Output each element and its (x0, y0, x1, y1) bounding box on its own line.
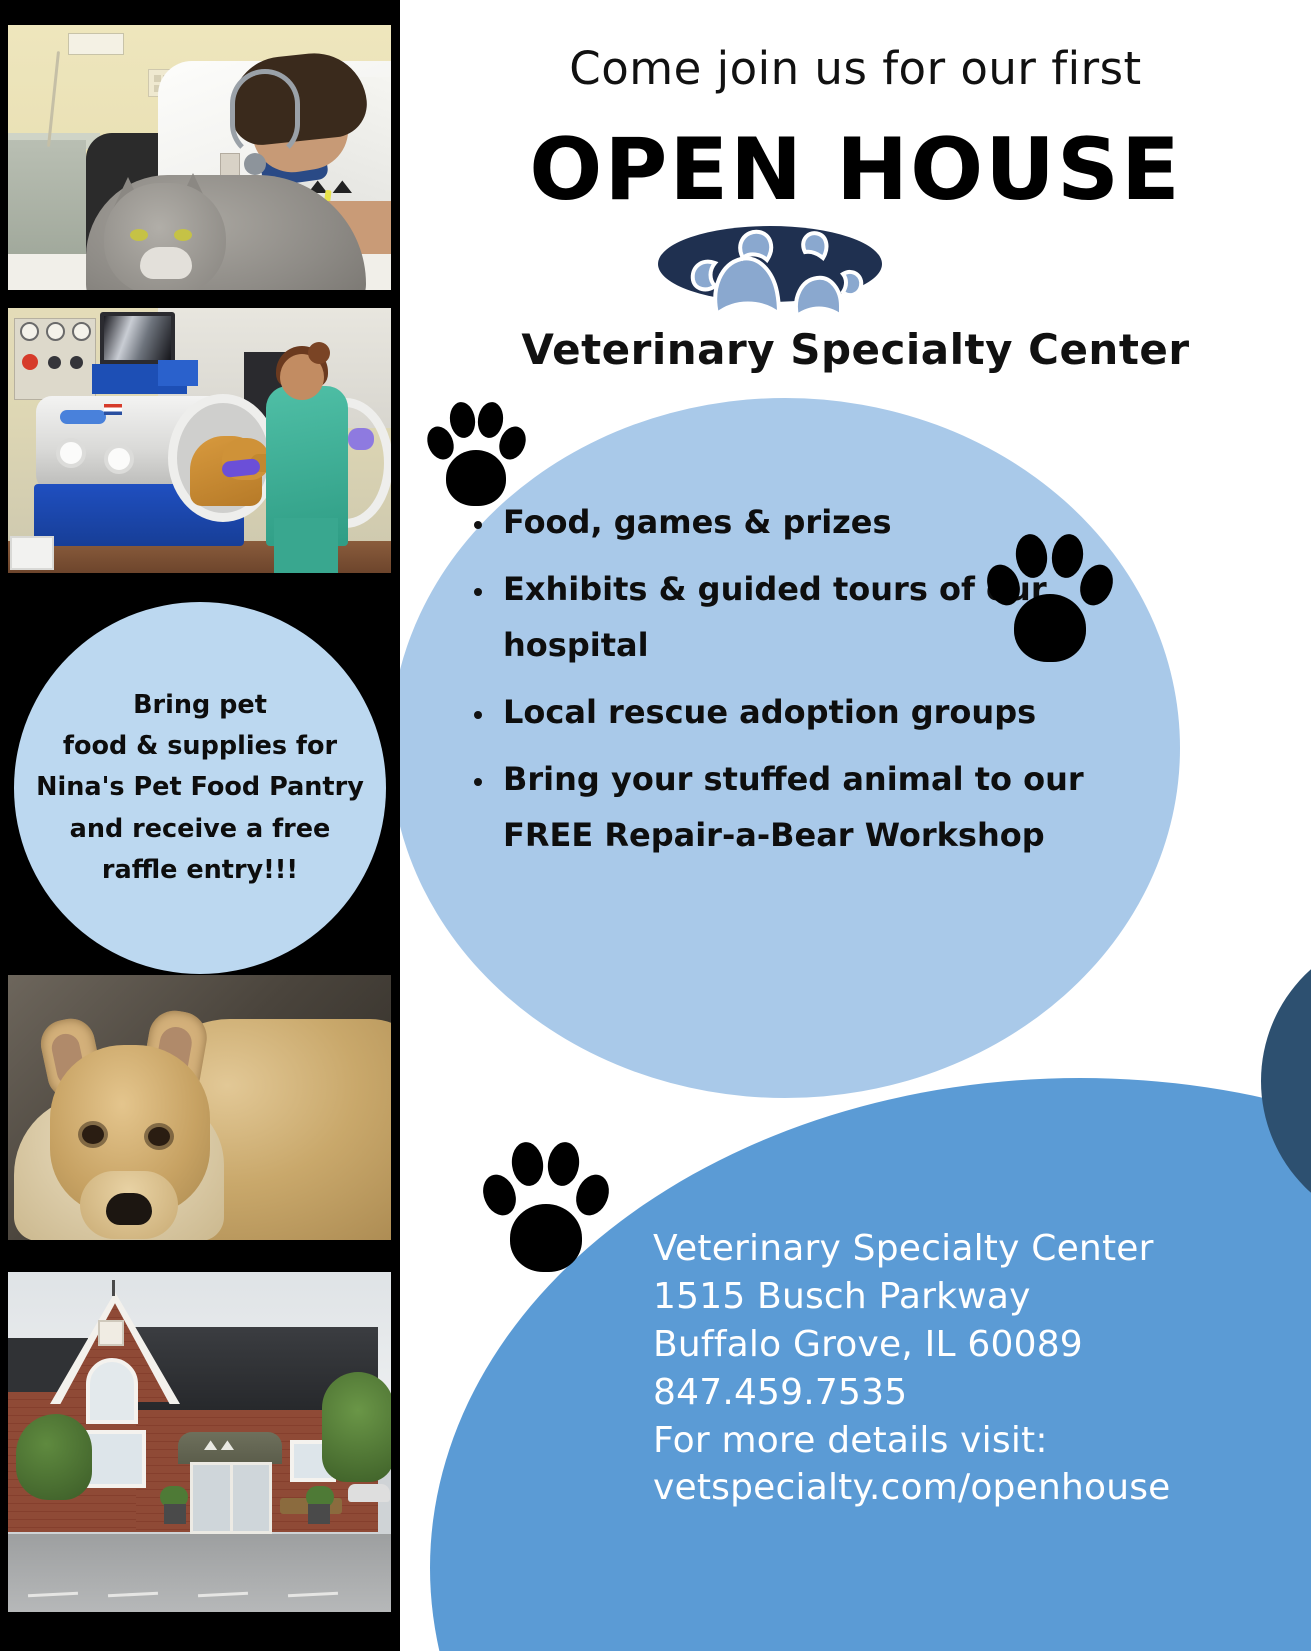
tank-porthole (104, 444, 134, 474)
purple-glove (348, 428, 374, 450)
contact-website[interactable]: vetspecialty.com/openhouse (653, 1464, 1293, 1512)
paw-print-icon (986, 530, 1112, 662)
organization-name: Veterinary Specialty Center (400, 325, 1311, 374)
tank-brand-label (60, 410, 106, 424)
donation-line: and receive a free (70, 809, 331, 850)
list-item: Bring your stuffed animal to our FREE Re… (455, 752, 1135, 863)
flyer-pretitle: Come join us for our first (400, 42, 1311, 95)
pressure-gauge (20, 322, 39, 341)
event-date: 11.08.15 (1281, 1038, 1311, 1075)
technician-legs (274, 518, 338, 573)
dog-eye-right (148, 1127, 170, 1146)
door-divider (230, 1462, 233, 1534)
control-knob (70, 356, 83, 369)
contact-city: Buffalo Grove, IL 60089 (653, 1321, 1293, 1369)
details-label: For more details visit: (653, 1417, 1293, 1465)
technician-hair-bun (308, 342, 330, 364)
donation-line: raffle entry!!! (102, 850, 298, 891)
control-knob (48, 356, 61, 369)
dog-nose (106, 1193, 152, 1225)
planter (308, 1504, 330, 1524)
tank-porthole (56, 438, 86, 468)
paw-print-icon (482, 1138, 608, 1272)
photo-terrier-dog (8, 975, 391, 1240)
contact-street: 1515 Busch Parkway (653, 1273, 1293, 1321)
pressure-gauge (72, 322, 91, 341)
donation-line: Bring pet (133, 685, 267, 726)
photo-hyperbaric-chamber-dog (8, 308, 391, 573)
cat-muzzle (140, 247, 192, 279)
contact-phone: 847.459.7535 (653, 1369, 1293, 1417)
laundry-basket (10, 536, 54, 570)
photo-vet-examining-cat (8, 25, 391, 290)
flag-decal (104, 404, 122, 415)
flyer-title: OPEN HOUSE (400, 120, 1311, 220)
gable-vent (98, 1320, 124, 1346)
event-date-block: Sunday 11.08.15 12-4 P.M. (1281, 975, 1311, 1164)
contact-name: Veterinary Specialty Center (653, 1225, 1293, 1273)
parking-lot (8, 1534, 391, 1612)
monitor-screen (104, 316, 171, 360)
event-time: 12-4 P.M. (1281, 1101, 1311, 1138)
dog-eye-left (82, 1125, 104, 1144)
cat-eye-left (130, 229, 148, 241)
donation-line: food & supplies for (63, 726, 337, 767)
roof-spire (112, 1280, 115, 1296)
event-day: Sunday (1281, 975, 1311, 1012)
donation-callout-circle: Bring pet food & supplies for Nina's Pet… (14, 602, 386, 974)
paw-print-icon (424, 396, 524, 506)
arched-window (86, 1358, 138, 1424)
flyer-main-panel: Come join us for our first OPEN HOUSE Ve… (400, 0, 1311, 1651)
stethoscope-head (244, 153, 266, 175)
contact-block: Veterinary Specialty Center 1515 Busch P… (653, 1225, 1293, 1512)
tree-left (16, 1414, 92, 1500)
parked-car (348, 1484, 390, 1502)
veterinary-specialty-center-logo (655, 218, 885, 318)
cat-eye-right (174, 229, 192, 241)
tree-right (322, 1372, 391, 1482)
donation-line: Nina's Pet Food Pantry (36, 767, 364, 808)
photo-hospital-building (8, 1272, 391, 1612)
chamber-cradle-top (158, 360, 198, 386)
wall-poster (68, 33, 124, 55)
emergency-stop-button (22, 354, 38, 370)
pressure-gauge (46, 322, 65, 341)
planter (164, 1504, 186, 1524)
stethoscope (230, 69, 300, 159)
list-item: Local rescue adoption groups (455, 685, 1135, 740)
